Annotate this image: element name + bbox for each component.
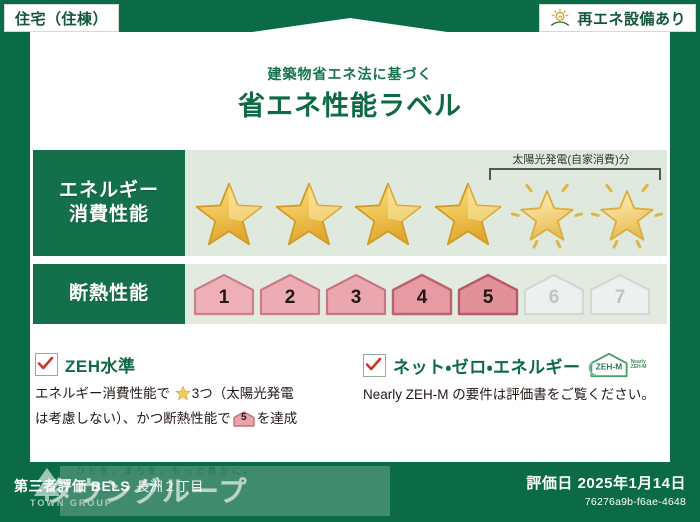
footer-right-group: 評価日 2025年1月14日 76276a9b-f6ae-4648 [526, 472, 686, 508]
zeh-standard-header: ZEH水準 [35, 352, 335, 377]
energy-star-rating [193, 176, 663, 252]
svg-text:ZEH-M: ZEH-M [595, 362, 621, 372]
insulation-performance-label: 断熱性能 [33, 264, 185, 324]
renewable-equipment-badge: 再エネ設備あり [539, 4, 696, 32]
net-zero-energy-header: ネット・ゼロ・エネルギー ZEH-M Nearly ZEH-M [363, 352, 663, 378]
energy-performance-label: エネルギー 消費性能 [33, 150, 185, 256]
zeh-m-logo: ZEH-M Nearly ZEH-M [588, 352, 647, 378]
energy-label-line2: 消費性能 [69, 203, 149, 227]
insulation-level-scale: 1 2 3 4 5 [185, 264, 667, 324]
star-filled [352, 178, 424, 250]
insulation-level-badge: 6 [523, 272, 585, 316]
checkbox-checked-icon [35, 353, 58, 376]
insulation-level-badge: 7 [589, 272, 651, 316]
checkbox-checked-icon [363, 354, 386, 377]
energy-label-line1: エネルギー [59, 179, 159, 203]
zeh-standard-block: ZEH水準 エネルギー消費性能で 3つ（太陽光発電 は考慮しない）、かつ断熱性能… [35, 352, 335, 431]
star-filled [273, 178, 345, 250]
star-filled [193, 178, 265, 250]
zeh-desc-part3: を達成 [257, 411, 298, 426]
star-filled [432, 178, 504, 250]
insulation-level-badge: 2 [259, 272, 321, 316]
zeh-m-logo-sub: Nearly ZEH-M [631, 360, 647, 371]
insulation-level-number: 1 [219, 288, 230, 316]
solar-generation-note: 太陽光発電(自家消費)分 [481, 151, 661, 167]
insulation-level-number: 7 [615, 288, 626, 316]
energy-label-root: 住宅（住棟） 再エネ設備あり 建築物省エネ法に基づく 省エネ性能ラベル [0, 0, 700, 522]
insulation-level-badge: 3 [325, 272, 387, 316]
insulation-levels-panel: 1 2 3 4 5 [185, 264, 667, 324]
net-zero-energy-title: ネット・ゼロ・エネルギー [393, 353, 581, 378]
net-zero-energy-block: ネット・ゼロ・エネルギー ZEH-M Nearly ZEH-M Nearly Z… [363, 352, 663, 406]
energy-stars-panel: 太陽光発電(自家消費)分 [185, 150, 667, 256]
zeh-desc-part1: エネルギー消費性能で [35, 386, 170, 401]
renewable-equipment-label: 再エネ設備あり [577, 8, 686, 29]
insulation-level-number: 4 [417, 288, 428, 316]
page-title: 省エネ性能ラベル [0, 84, 700, 123]
insulation-level-number: 3 [351, 288, 362, 316]
star-solar [511, 178, 583, 250]
insulation-level-number: 5 [483, 288, 494, 316]
inline-star-icon [171, 389, 191, 404]
zeh-standard-description: エネルギー消費性能で 3つ（太陽光発電 は考慮しない）、かつ断熱性能で 5 を達… [35, 383, 335, 431]
sun-solar-icon [549, 8, 571, 29]
document-id: 76276a9b-f6ae-4648 [526, 496, 686, 508]
insulation-performance-row: 断熱性能 1 2 3 4 [33, 264, 667, 324]
net-zero-energy-description: Nearly ZEH-M の要件は評価書をご覧ください。 [363, 384, 663, 406]
insulation-level-number: 2 [285, 288, 296, 316]
zeh-desc-star-count: 3つ（太陽光発電 [192, 386, 294, 401]
insulation-level-badge: 1 [193, 272, 255, 316]
evaluation-date: 評価日 2025年1月14日 [526, 472, 686, 493]
house-type-badge: 住宅（住棟） [4, 4, 119, 32]
inline-insulation-badge-icon: 5 [233, 411, 255, 427]
star-solar [591, 178, 663, 250]
footer-left-group: 第三者評価 BELS 長洲２丁目 [14, 476, 204, 496]
label-footer: 第三者評価 BELS 長洲２丁目 評価日 2025年1月14日 76276a9b… [0, 462, 700, 522]
insulation-level-badge: 4 [391, 272, 453, 316]
insulation-label-text: 断熱性能 [69, 282, 149, 306]
zeh-m-sub-line2: ZEH-M [631, 364, 647, 370]
house-type-label: 住宅（住棟） [15, 8, 108, 29]
insulation-level-number: 6 [549, 288, 560, 316]
zeh-desc-part2: は考慮しない）、かつ断熱性能で [35, 411, 231, 426]
energy-performance-row: エネルギー 消費性能 太陽光発電(自家消費)分 [33, 150, 667, 256]
property-address: 長洲２丁目 [136, 476, 204, 495]
bels-evaluation-label: 第三者評価 BELS [14, 476, 130, 496]
insulation-level-badge: 5 [457, 272, 519, 316]
zeh-standard-title: ZEH水準 [65, 352, 136, 377]
inline-insulation-badge-number: 5 [233, 411, 255, 427]
label-subtitle: 建築物省エネ法に基づく [0, 64, 700, 84]
